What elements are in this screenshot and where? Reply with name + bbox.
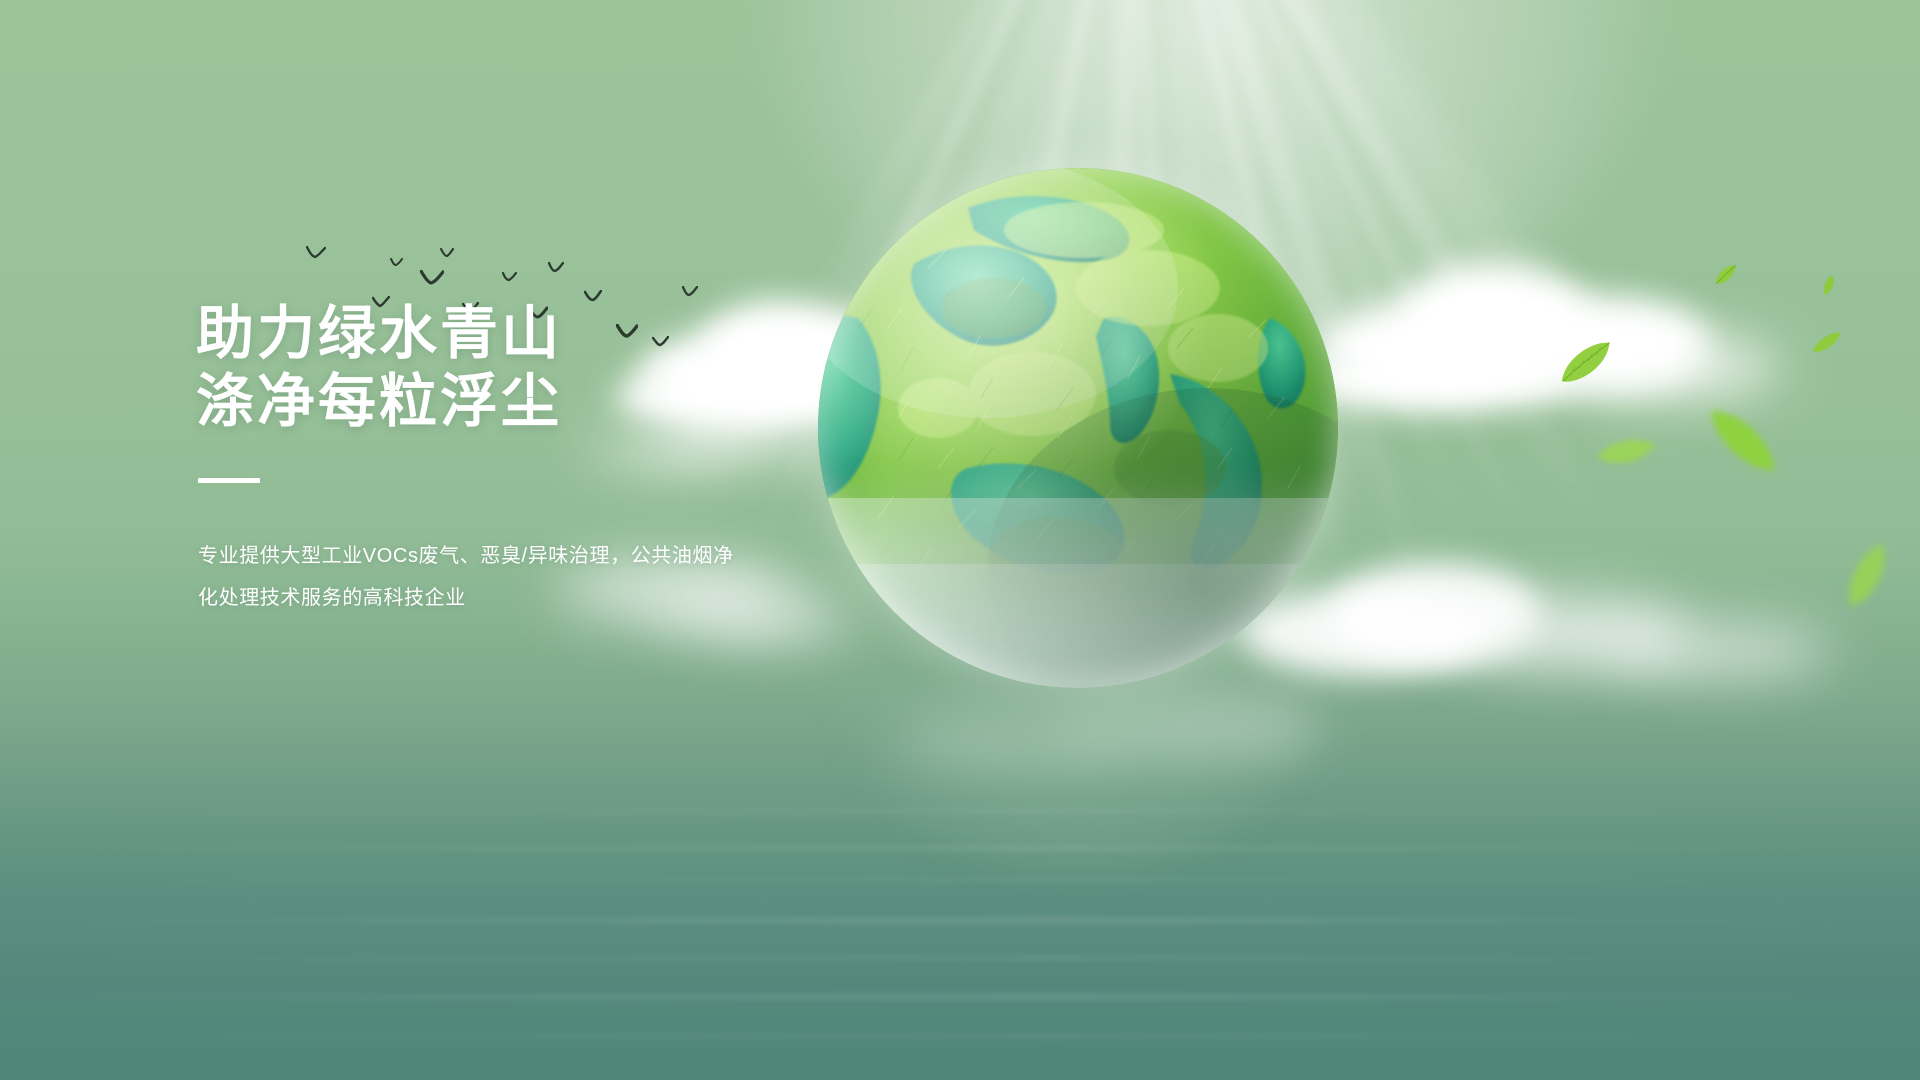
bird-icon — [306, 246, 326, 259]
leaf-icon — [1818, 273, 1840, 297]
headline-divider — [198, 478, 260, 483]
hero-copy: 助力绿水青山 涤净每粒浮尘 专业提供大型工业VOCs废气、恶臭/异味治理，公共油… — [196, 300, 896, 619]
bird-icon — [440, 248, 454, 258]
globe-continents-icon — [818, 168, 1338, 688]
leaf-icon — [1808, 331, 1845, 356]
bird-icon — [502, 272, 517, 282]
water-surface — [0, 750, 1920, 1080]
leaf-icon — [1710, 262, 1741, 288]
bird-icon — [548, 262, 564, 273]
earth-globe — [818, 168, 1338, 688]
bird-icon — [420, 270, 444, 285]
leaf-icon — [1595, 435, 1658, 469]
headline-line-2: 涤净每粒浮尘 — [196, 368, 896, 436]
headline-line-1: 助力绿水青山 — [196, 300, 896, 368]
hero-subcopy: 专业提供大型工业VOCs废气、恶臭/异味治理，公共油烟净化处理技术服务的高科技企… — [198, 535, 738, 619]
leaf-icon — [1831, 540, 1904, 612]
bird-icon — [682, 286, 698, 297]
bird-icon — [390, 258, 403, 267]
globe-sphere — [818, 168, 1338, 688]
leaf-icon — [1706, 392, 1783, 488]
hero-banner: 助力绿水青山 涤净每粒浮尘 专业提供大型工业VOCs废气、恶臭/异味治理，公共油… — [0, 0, 1920, 1080]
